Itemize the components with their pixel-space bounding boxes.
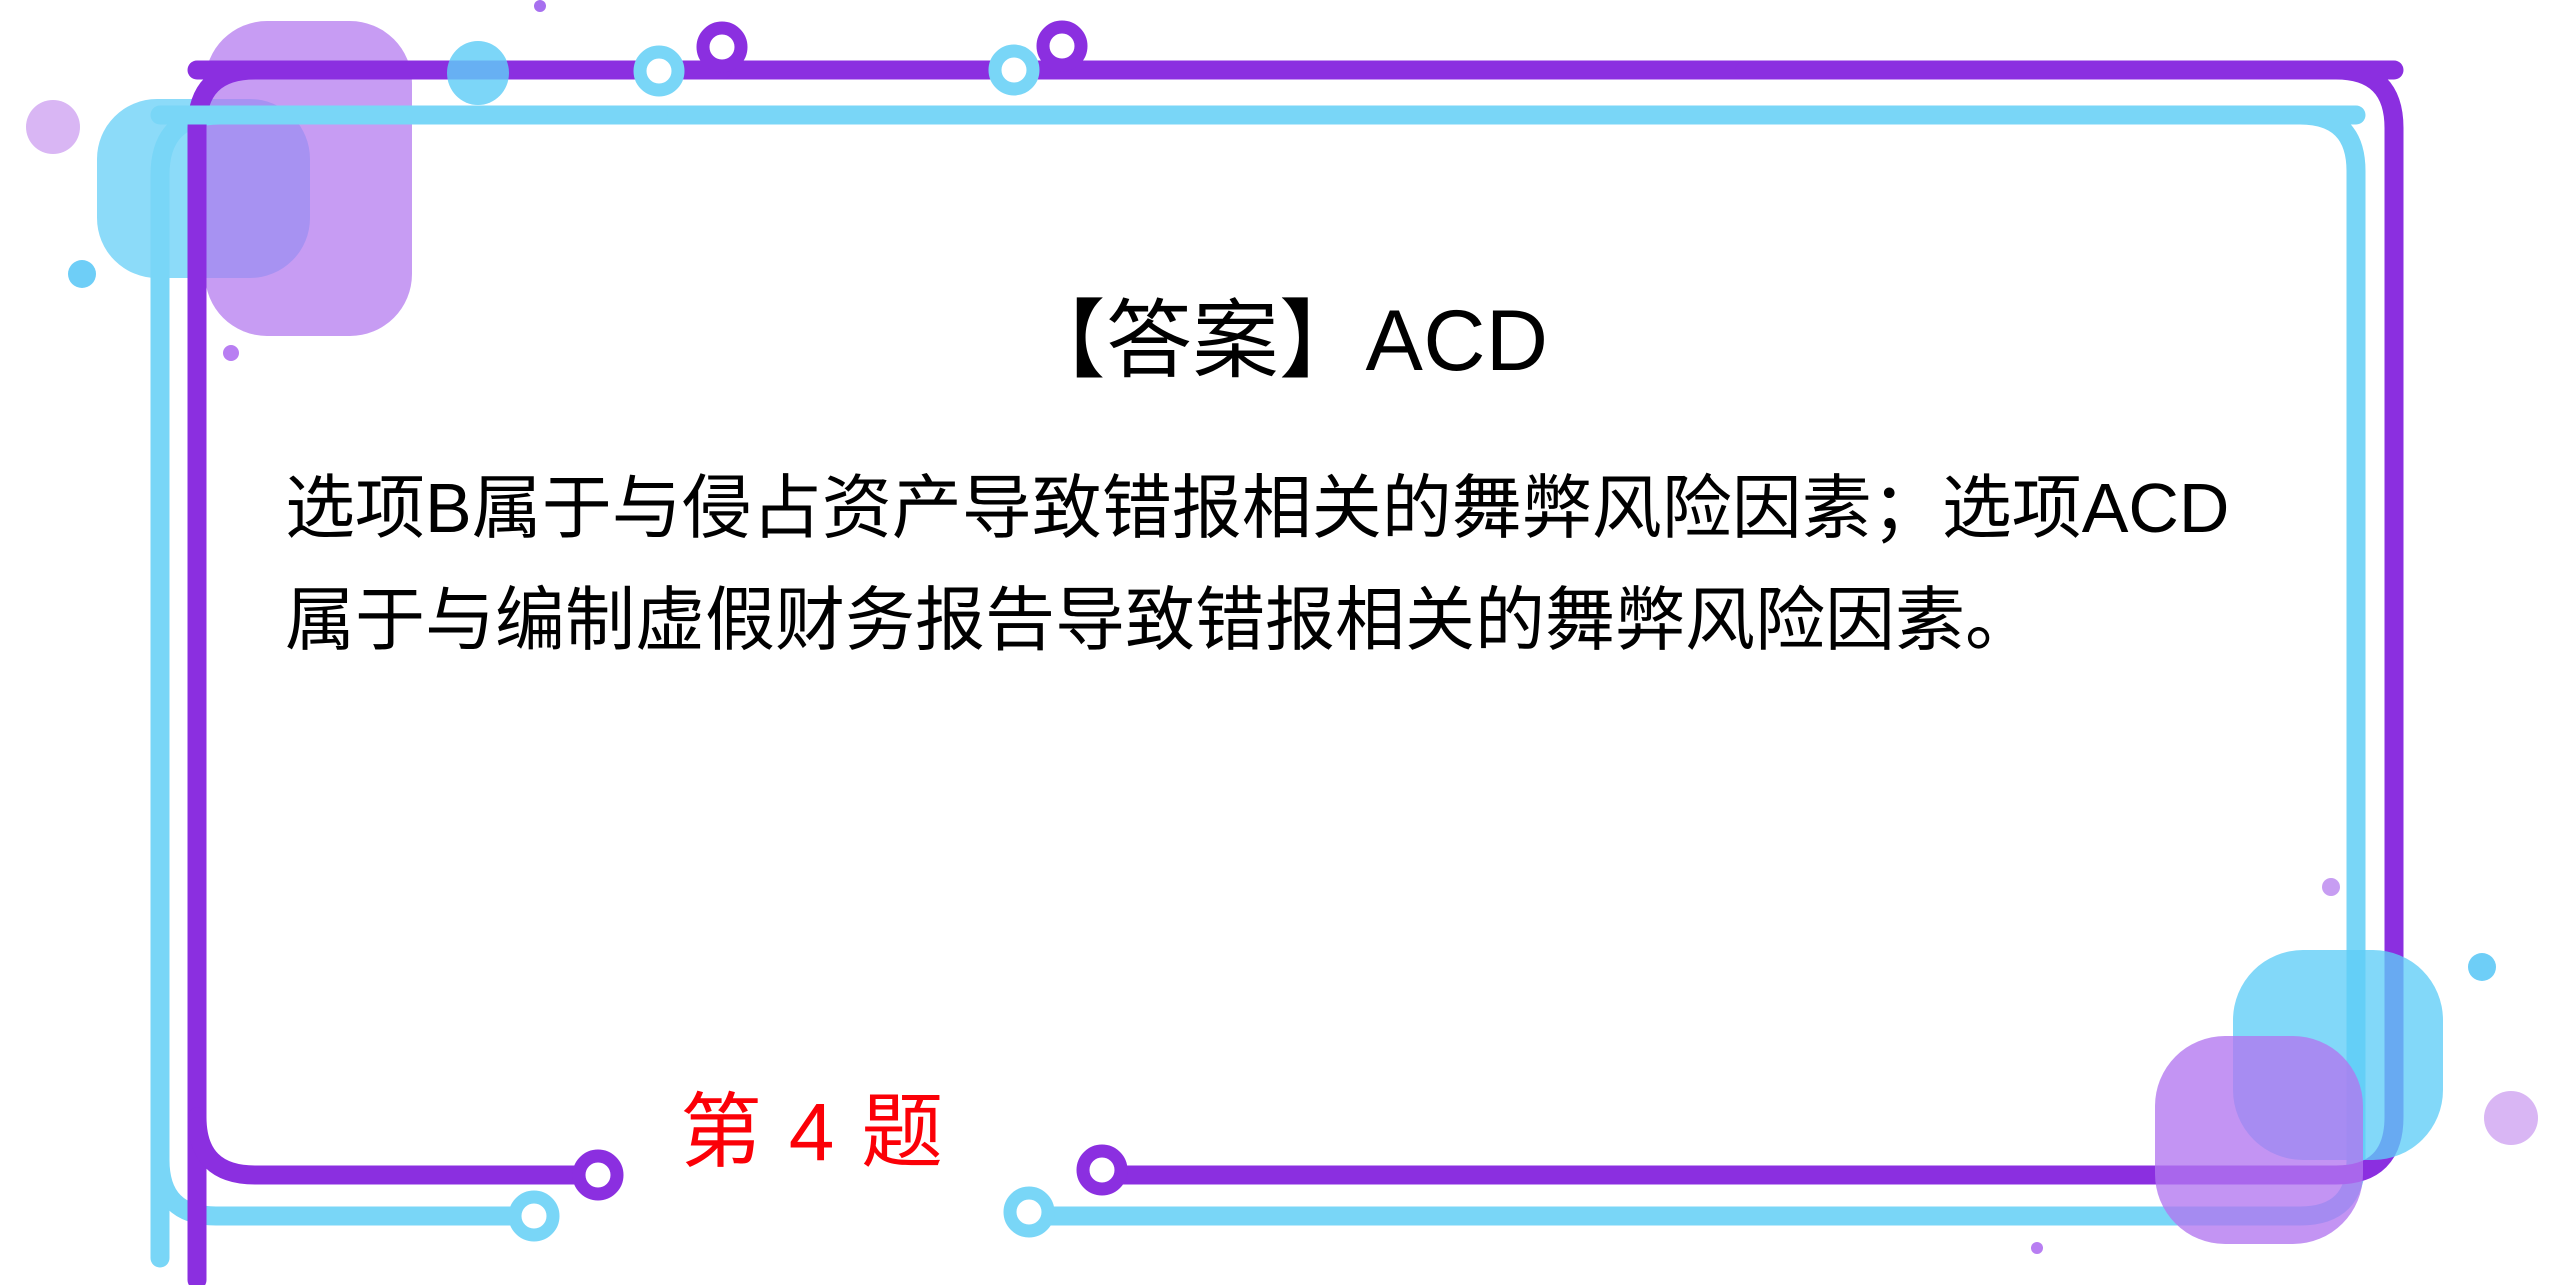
question-number-label: 第 4 题: [680, 1092, 945, 1174]
answer-explanation-line-2: 属于与编制虚假财务报告导致错报相关的舞弊风险因素。: [285, 564, 2355, 676]
answer-title: 【答案】ACD: [0, 292, 2568, 391]
answer-explanation: 选项B属于与侵占资产导致错报相关的舞弊风险因素；选项ACD 属于与编制虚假财务报…: [285, 452, 2355, 676]
slide-content: 【答案】ACD 选项B属于与侵占资产导致错报相关的舞弊风险因素；选项ACD 属于…: [0, 0, 2568, 1285]
answer-explanation-line-1: 选项B属于与侵占资产导致错报相关的舞弊风险因素；选项ACD: [285, 452, 2355, 564]
slide-canvas: 【答案】ACD 选项B属于与侵占资产导致错报相关的舞弊风险因素；选项ACD 属于…: [0, 0, 2568, 1285]
